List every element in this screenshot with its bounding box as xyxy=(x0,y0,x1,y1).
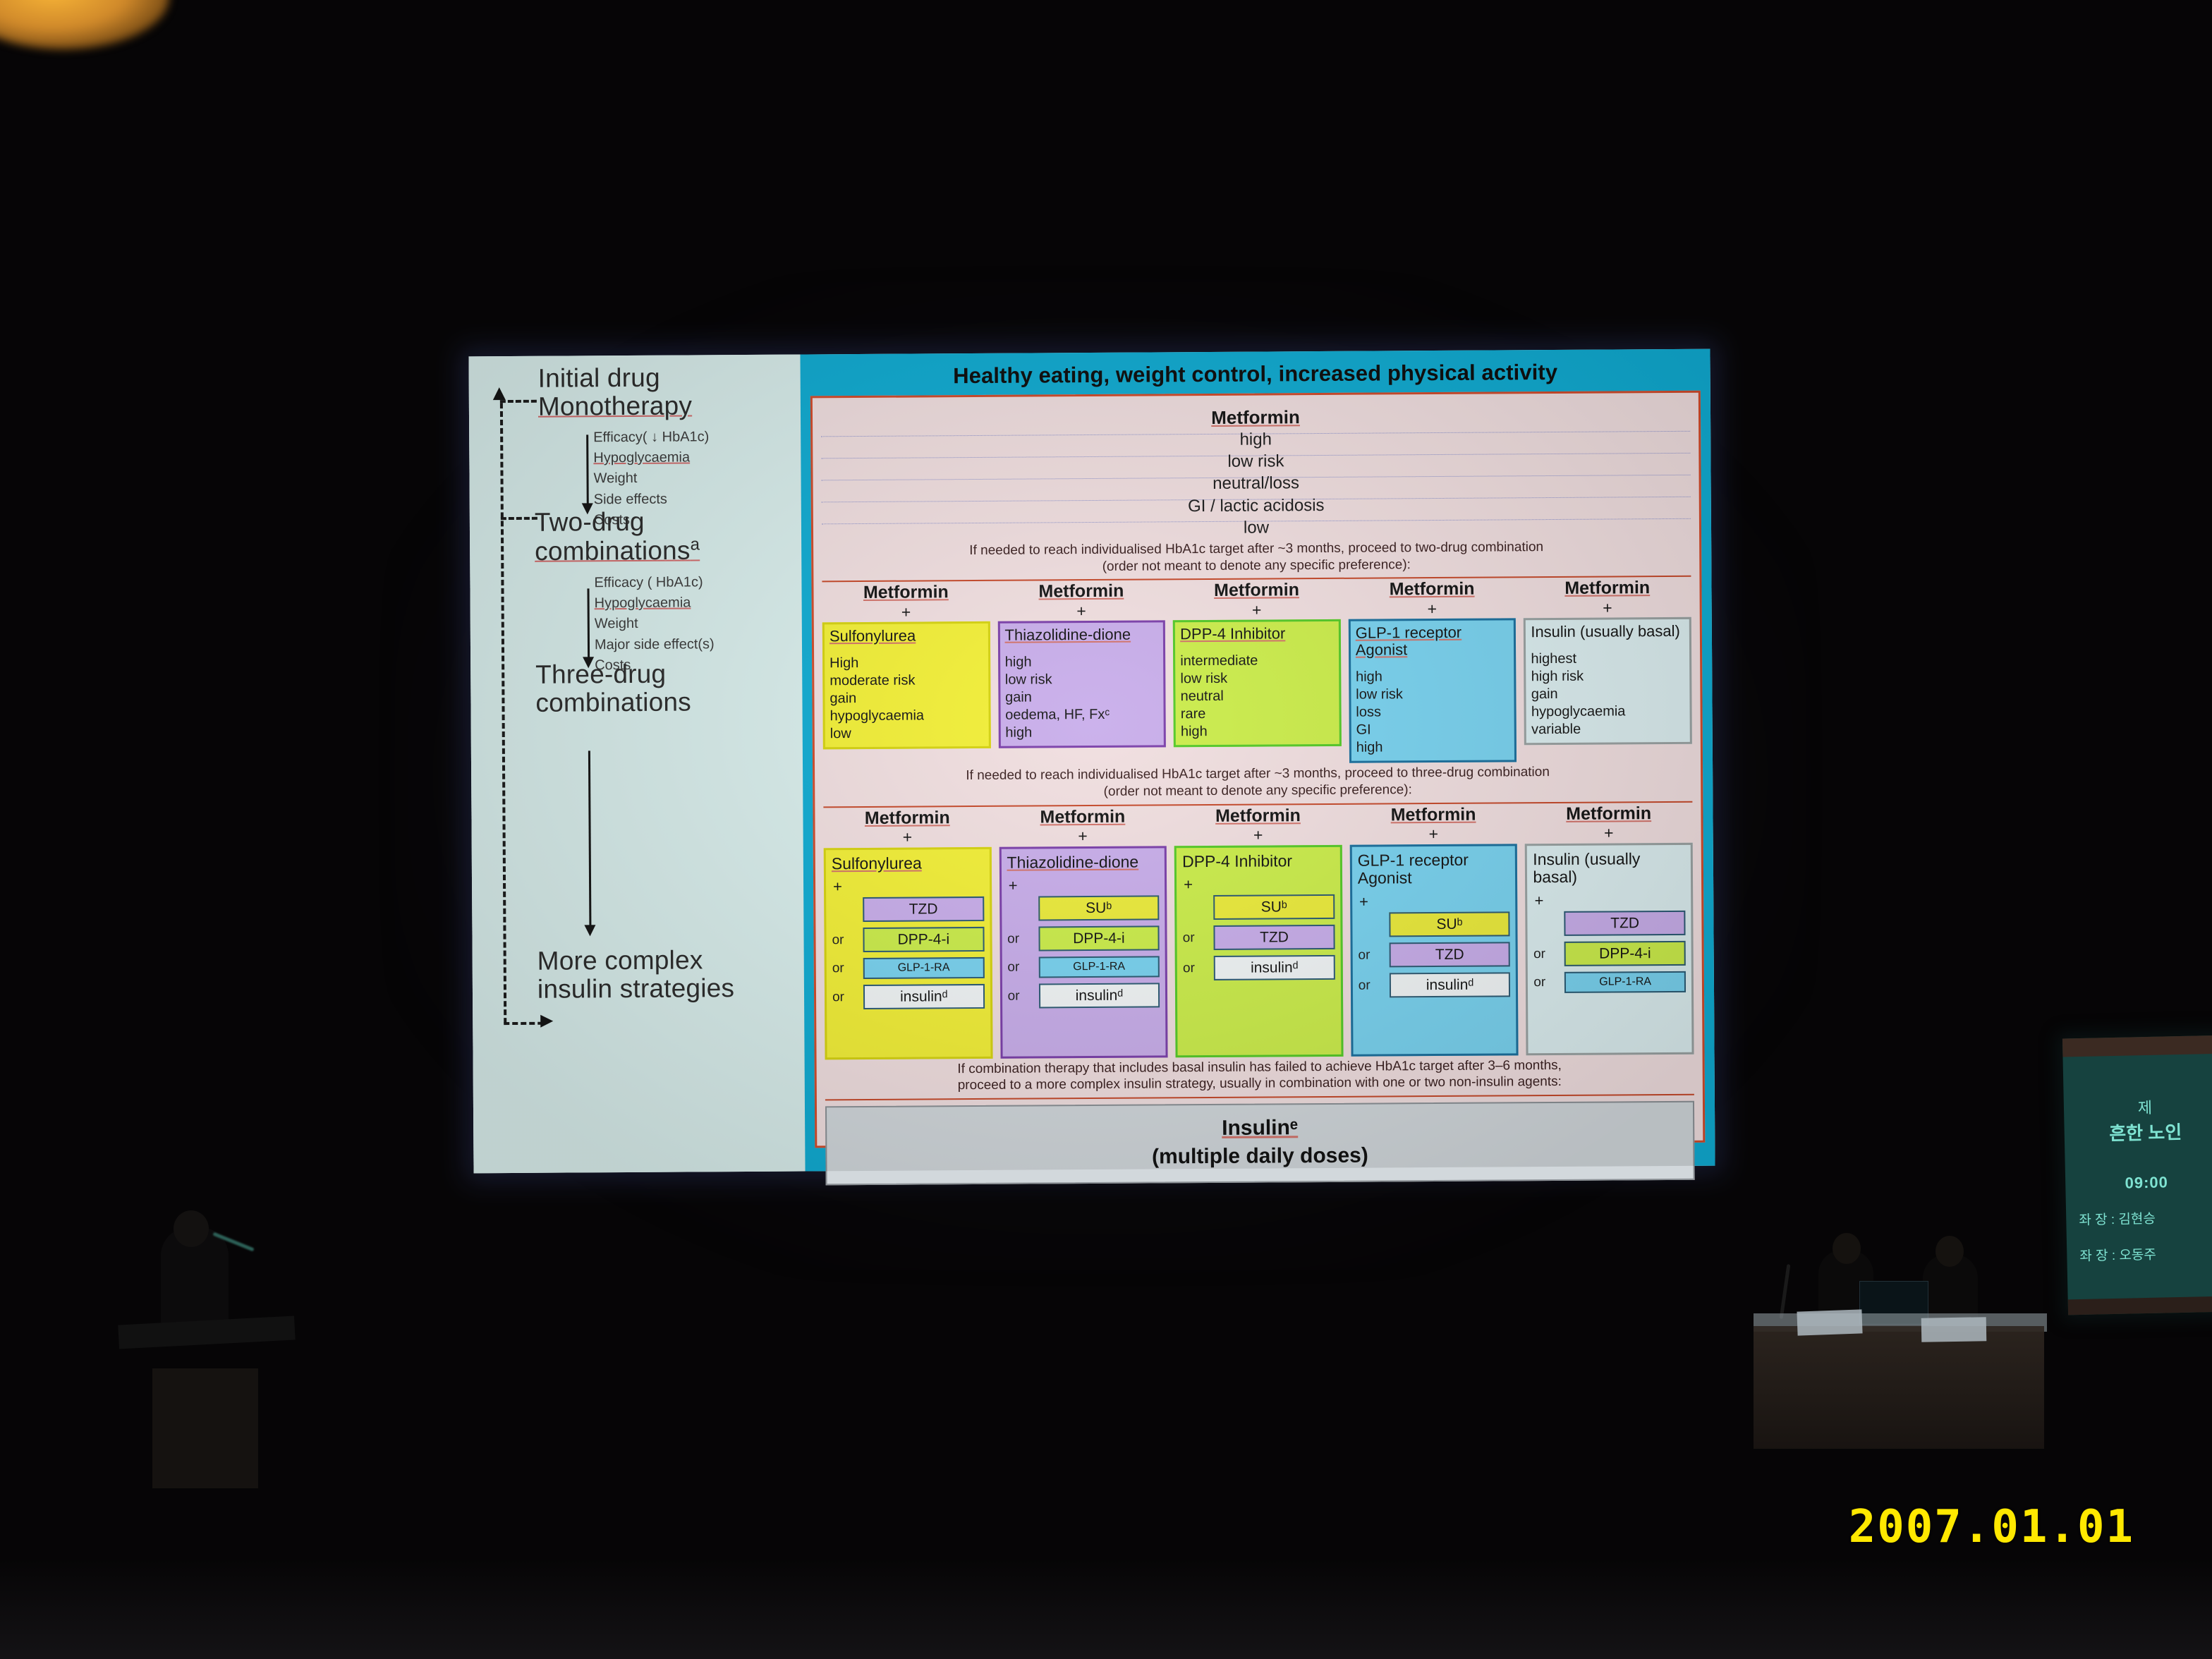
stage-label-two-drug: Two-drug xyxy=(535,508,645,536)
tzd-side: oedema, HF, Fxᶜ xyxy=(1005,706,1159,724)
plus-sign-2: + xyxy=(1076,602,1086,619)
two-drug-column-glp1: Metformin + GLP-1 receptor Agonist high … xyxy=(1348,580,1517,763)
ins-hypo: high risk xyxy=(1531,667,1685,686)
su-hypo: moderate risk xyxy=(829,671,983,690)
glp-efficacy: high xyxy=(1356,668,1509,686)
su-weight: gain xyxy=(829,689,983,707)
slide-main-panel: Healthy eating, weight control, increase… xyxy=(800,349,1715,1172)
metric-weight: Weight xyxy=(593,468,709,490)
or-label: or xyxy=(832,961,858,976)
tzd-cost: high xyxy=(1005,724,1159,742)
inner-plus-4: + xyxy=(1359,892,1510,911)
or-label: or xyxy=(832,990,858,1005)
su-side: hypoglycaemia xyxy=(830,707,984,725)
three-drug-column-glp1: Metformin + GLP-1 receptor Agonist + SUᵇ… xyxy=(1349,805,1519,1056)
arrow-down-icon-2 xyxy=(587,588,590,657)
metric-weight-2: Weight xyxy=(595,614,715,635)
tzd-hypo: low risk xyxy=(1005,671,1159,689)
stage-label-more-complex: More complex xyxy=(537,946,703,975)
glp-weight: loss xyxy=(1356,703,1509,722)
panel-table xyxy=(1754,1326,2044,1449)
panelist-head-1 xyxy=(1833,1233,1861,1264)
col-head-metformin-4: Metformin xyxy=(1390,580,1475,600)
box-title-dpp4: DPP-4 Inhibitor xyxy=(1180,625,1334,643)
box-title-glp1: GLP-1 receptor Agonist xyxy=(1356,624,1509,659)
col3-head-metformin-3: Metformin xyxy=(1215,806,1301,826)
dpp-efficacy: intermediate xyxy=(1180,652,1334,670)
glp-cost: high xyxy=(1356,739,1510,757)
box3-glp1-agonist: GLP-1 receptor Agonist + SUᵇ orTZD orins… xyxy=(1350,844,1519,1056)
two-drug-grid: Metformin + Sulfonylurea High moderate r… xyxy=(822,578,1692,767)
chip-glp1ra[interactable]: GLP-1-RA xyxy=(863,957,985,979)
plus3-sign-4: + xyxy=(1428,825,1438,842)
chip-su[interactable]: SUᵇ xyxy=(1213,894,1335,920)
dpp-cost: high xyxy=(1181,722,1335,741)
col3-head-metformin-2: Metformin xyxy=(1040,808,1125,827)
side-screen-session-title: 흔한 노인 xyxy=(2064,1118,2212,1149)
divider-red-3 xyxy=(825,1094,1694,1101)
col3-head-metformin-5: Metformin xyxy=(1566,804,1651,824)
or-label: or xyxy=(1358,947,1383,963)
three-drug-grid: Metformin + Sulfonylurea + TZD orDPP-4-i… xyxy=(823,804,1694,1059)
box-thiazolidinedione-2drug: Thiazolidine-dione high low risk gain oe… xyxy=(997,620,1166,748)
box3-title-glp1: GLP-1 receptor Agonist xyxy=(1358,851,1510,888)
arrow-down-icon-1 xyxy=(586,435,589,504)
note-proceed-two-drug: If needed to reach individualised HbA1c … xyxy=(822,536,1691,578)
chip-insulin[interactable]: insulinᵈ xyxy=(1214,955,1335,980)
two-drug-column-dpp4: Metformin + DPP-4 Inhibitor intermediate… xyxy=(1173,581,1342,764)
inner-plus-1: + xyxy=(833,877,984,896)
chip-dpp4i[interactable]: DPP-4-i xyxy=(1564,941,1686,966)
chip-insulin[interactable]: insulinᵈ xyxy=(1390,972,1511,997)
chip-insulin[interactable]: insulinᵈ xyxy=(1039,983,1160,1009)
insulin-final-box: Insulinᵉ (multiple daily doses) xyxy=(825,1101,1695,1186)
col-head-metformin-3: Metformin xyxy=(1214,581,1299,601)
tzd-efficacy: high xyxy=(1005,653,1159,671)
su-cost: low xyxy=(830,724,984,743)
box3-title-dpp4: DPP-4 Inhibitor xyxy=(1182,851,1335,870)
glp-hypo: low risk xyxy=(1356,686,1509,704)
side-screen-chair-2: 좌 장 : 오동주 xyxy=(2067,1244,2212,1267)
or-label: or xyxy=(1008,988,1033,1004)
inner-plus-3: + xyxy=(1184,875,1335,894)
or-label: or xyxy=(1007,931,1033,947)
col-head-metformin-5: Metformin xyxy=(1564,579,1650,599)
box3-title-insulin-basal: Insulin (usually basal) xyxy=(1533,849,1685,887)
col-head-metformin-1: Metformin xyxy=(863,583,949,603)
name-placard-2 xyxy=(1921,1317,1987,1342)
lifestyle-banner: Healthy eating, weight control, increase… xyxy=(810,355,1701,396)
metric-efficacy: Efficacy( ↓ HbA1c) xyxy=(593,427,709,448)
plus-sign-1: + xyxy=(901,604,911,621)
algorithm-card: Metformin high low risk neutral/loss GI … xyxy=(810,391,1705,1148)
box-title-insulin-basal: Insulin (usually basal) xyxy=(1531,623,1684,641)
box-title-thiazolidinedione: Thiazolidine-dione xyxy=(1004,626,1158,645)
inner-plus-2: + xyxy=(1009,876,1160,895)
metric-major-side-effects: Major side effect(s) xyxy=(595,634,715,655)
box-glp1-agonist-2drug: GLP-1 receptor Agonist high low risk los… xyxy=(1349,618,1517,763)
ceiling-lamp-icon xyxy=(0,0,169,49)
plus-sign-4: + xyxy=(1427,600,1437,617)
ins-side: hypoglycaemia xyxy=(1531,703,1685,721)
dashed-connector-top xyxy=(500,400,537,403)
ins-cost: variable xyxy=(1531,720,1685,739)
chip-tzd[interactable]: TZD xyxy=(1214,925,1335,950)
slide-left-rail: Initial drug Monotherapy Efficacy( ↓ HbA… xyxy=(468,355,805,1174)
plus3-sign-2: + xyxy=(1078,827,1088,844)
three-drug-column-tzd: Metformin + Thiazolidine-dione + SUᵇ orD… xyxy=(999,807,1168,1058)
three-drug-column-insulin: Metformin + Insulin (usually basal) + TZ… xyxy=(1525,804,1694,1055)
arrow-right-icon xyxy=(540,1015,553,1028)
col-head-metformin-2: Metformin xyxy=(1038,582,1124,602)
or-label: or xyxy=(1533,947,1559,962)
two-drug-column-su: Metformin + Sulfonylurea High moderate r… xyxy=(822,583,990,766)
metric-hypoglycaemia-2: Hypoglycaemia xyxy=(595,592,715,614)
arrow-down-icon-3 xyxy=(588,750,592,925)
box-title-sulfonylurea: Sulfonylurea xyxy=(829,627,983,645)
plus3-sign-3: + xyxy=(1253,827,1263,844)
metric-efficacy-2: Efficacy ( HbA1c) xyxy=(594,572,714,593)
two-drug-column-tzd: Metformin + Thiazolidine-dione high low … xyxy=(997,582,1166,765)
stage-label-three-drug-combinations: combinations xyxy=(535,688,691,717)
box-sulfonylurea-2drug: Sulfonylurea High moderate risk gain hyp… xyxy=(822,621,991,750)
chip-glp1ra[interactable]: GLP-1-RA xyxy=(1038,956,1160,978)
ins-weight: gain xyxy=(1531,685,1685,703)
side-screen-line-top: 제 xyxy=(2064,1095,2212,1122)
projected-slide: Initial drug Monotherapy Efficacy( ↓ HbA… xyxy=(468,349,1715,1174)
col3-head-metformin-4: Metformin xyxy=(1391,806,1476,825)
dpp-side: rare xyxy=(1181,705,1335,723)
note-proceed-three-drug: If needed to reach individualised HbA1c … xyxy=(823,761,1692,803)
or-label: or xyxy=(1359,978,1384,993)
dashed-connector-bottom xyxy=(504,1022,543,1025)
floor-glow xyxy=(0,1559,2212,1659)
ins-efficacy: highest xyxy=(1531,650,1684,668)
chip-tzd[interactable]: TZD xyxy=(1564,911,1686,936)
speaker-head xyxy=(174,1210,209,1247)
stage-label-three-drug: Three-drug xyxy=(535,660,666,688)
camera-datestamp: 2007.01.01 xyxy=(1849,1501,2134,1553)
box3-title-thiazolidinedione: Thiazolidine-dione xyxy=(1007,853,1159,872)
monotherapy-block: Metformin high low risk neutral/loss GI … xyxy=(821,400,1691,541)
dpp-hypo: low risk xyxy=(1180,669,1334,688)
box-insulin-basal-2drug: Insulin (usually basal) highest high ris… xyxy=(1524,617,1692,746)
footnote-marker-a: a xyxy=(690,535,700,554)
plus3-sign-1: + xyxy=(903,829,913,846)
plus-sign-3: + xyxy=(1252,601,1262,618)
box3-sulfonylurea: Sulfonylurea + TZD orDPP-4-i orGLP-1-RA … xyxy=(824,846,992,1059)
name-placard-1 xyxy=(1797,1309,1862,1335)
glp-side: GI xyxy=(1356,721,1509,739)
chip-dpp4i[interactable]: DPP-4-i xyxy=(1038,926,1160,952)
chip-glp1ra[interactable]: GLP-1-RA xyxy=(1564,971,1686,993)
two-drug-column-insulin: Metformin + Insulin (usually basal) high… xyxy=(1524,578,1692,762)
col3-head-metformin-1: Metformin xyxy=(865,808,950,828)
box3-thiazolidinedione: Thiazolidine-dione + SUᵇ orDPP-4-i orGLP… xyxy=(999,846,1167,1058)
conference-room: Initial drug Monotherapy Efficacy( ↓ HbA… xyxy=(0,0,2212,1659)
chip-su[interactable]: SUᵇ xyxy=(1038,896,1160,921)
or-label: or xyxy=(1183,961,1208,976)
podium xyxy=(152,1368,258,1488)
plus-sign-5: + xyxy=(1603,599,1612,616)
insulin-final-title: Insulinᵉ xyxy=(827,1114,1693,1143)
stage-label-initial-drug: Initial drug xyxy=(538,364,660,392)
chip-dpp4i[interactable]: DPP-4-i xyxy=(863,927,984,952)
or-label: or xyxy=(1183,930,1208,946)
insulin-final-subtitle: (multiple daily doses) xyxy=(827,1142,1693,1172)
plus3-sign-5: + xyxy=(1604,825,1614,841)
arrow-up-icon xyxy=(493,387,506,400)
stage-label-insulin-strategies: insulin strategies xyxy=(537,974,734,1003)
panelist-head-2 xyxy=(1936,1236,1964,1267)
dpp-weight: neutral xyxy=(1181,687,1335,705)
side-screen-time: 09:00 xyxy=(2065,1169,2212,1196)
chip-insulin[interactable]: insulinᵈ xyxy=(863,984,985,1009)
side-program-screen: 제 흔한 노인 09:00 좌 장 : 김현승 좌 장 : 오동주 xyxy=(2062,1035,2212,1315)
or-label: or xyxy=(832,932,857,948)
box3-title-sulfonylurea: Sulfonylurea xyxy=(832,854,984,873)
feedback-dashed-line xyxy=(500,403,506,1023)
dashed-connector-mid xyxy=(501,517,537,520)
or-label: or xyxy=(1533,975,1559,990)
stage-label-monotherapy: Monotherapy xyxy=(538,391,692,420)
three-drug-column-su: Metformin + Sulfonylurea + TZD orDPP-4-i… xyxy=(823,808,992,1059)
stage-label-two-drug-combinations: combinationsa xyxy=(535,535,700,565)
side-screen-chair-1: 좌 장 : 김현승 xyxy=(2066,1208,2212,1232)
box3-insulin-basal: Insulin (usually basal) + TZD orDPP-4-i … xyxy=(1525,842,1694,1055)
box3-dpp4-inhibitor: DPP-4 Inhibitor + SUᵇ orTZD orinsulinᵈ xyxy=(1174,844,1343,1057)
three-drug-column-dpp4: Metformin + DPP-4 Inhibitor + SUᵇ orTZD … xyxy=(1174,806,1344,1057)
tzd-weight: gain xyxy=(1005,688,1159,707)
metric-hypoglycaemia: Hypoglycaemia xyxy=(593,447,709,468)
microphone-stand-icon xyxy=(1780,1264,1791,1319)
box-dpp4-inhibitor-2drug: DPP-4 Inhibitor intermediate low risk ne… xyxy=(1173,619,1342,748)
chip-tzd[interactable]: TZD xyxy=(863,897,984,922)
su-efficacy: High xyxy=(829,654,983,672)
chip-su[interactable]: SUᵇ xyxy=(1389,911,1510,937)
inner-plus-5: + xyxy=(1535,891,1686,910)
note-proceed-complex-insulin: If combination therapy that includes bas… xyxy=(825,1054,1694,1095)
or-label: or xyxy=(1007,960,1033,976)
podium-top xyxy=(118,1315,295,1349)
chip-tzd[interactable]: TZD xyxy=(1389,942,1510,967)
